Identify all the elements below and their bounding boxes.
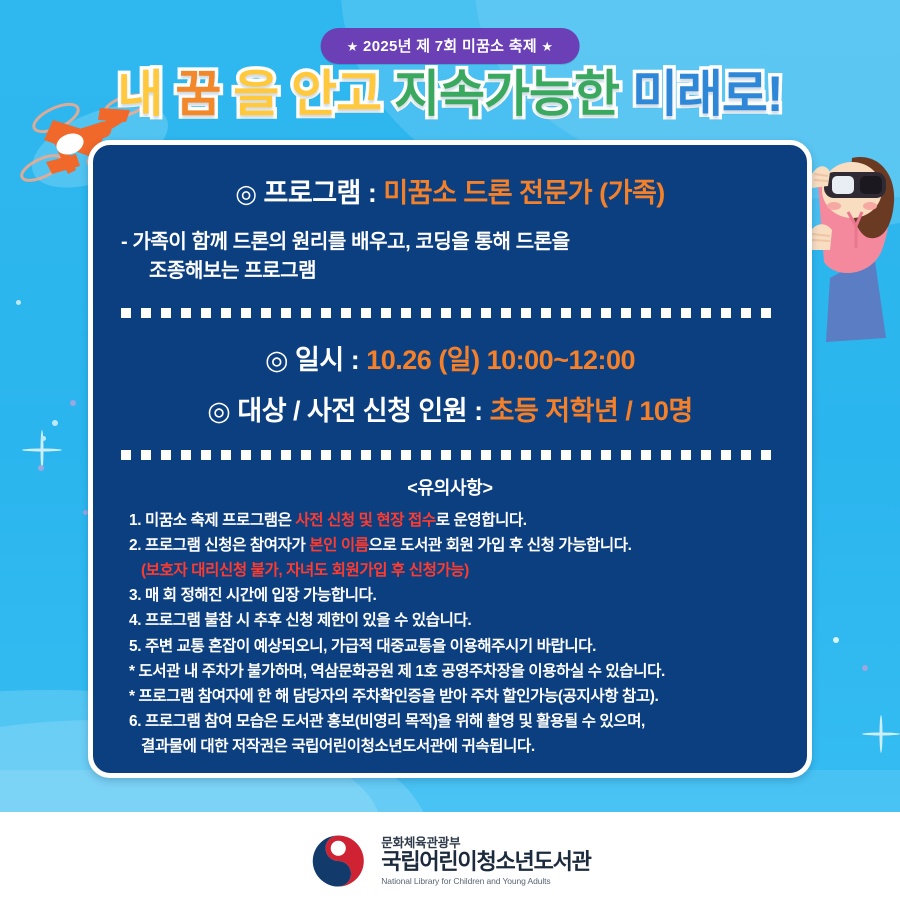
bullet-circle-icon-program: ◎ [235,180,256,208]
poster-root: ★ 2025년 제 7회 미꿈소 축제 ★ 내 꿈 을 안고 지속가능한 미래로… [0,0,900,900]
bullet-circle-icon-datetime: ◎ [265,345,288,375]
notice-item: 3. 매 회 정해진 시간에 입장 가능합니다. [129,583,777,608]
event-badge: ★ 2025년 제 7회 미꿈소 축제 ★ [321,28,580,64]
notice-item-text-tail: 로 운영합니다. [436,512,527,529]
notice-item-text: 1. 미꿈소 축제 프로그램은 [129,512,295,529]
decor-dot-6 [833,637,839,643]
notice-item: 2. 프로그램 신청은 참여자가 본인 이름으로 도서관 회원 가입 후 신청 … [129,533,777,558]
title-part-3: 을 안고 [233,66,381,122]
decor-dot-2 [41,436,46,441]
notice-item-highlight: 사전 신청 및 현장 접수 [295,512,435,529]
audience-row: ◎ 대상 / 사전 신청 인원 : 초등 저학년 / 10명 [119,389,781,428]
notice-item: 결과물에 대한 저작권은 국립어린이청소년도서관에 귀속됩니다. [129,734,777,759]
notice-item-text: 5. 주변 교통 혼잡이 예상되오니, 가급적 대중교통을 이용해주시기 바랍니… [129,638,596,655]
datetime-value: 10.26 (일) 10:00~12:00 [366,345,635,375]
description-dash: - [121,231,127,253]
event-badge-label: 2025년 제 7회 미꿈소 축제 [363,38,537,55]
star-icon-right: ★ [541,39,553,54]
footer-library-name-en: National Library for Children and Young … [381,877,590,887]
notice-item-text: 결과물에 대한 저작권은 국립어린이청소년도서관에 귀속됩니다. [141,738,535,755]
notice-item: 1. 미꿈소 축제 프로그램은 사전 신청 및 현장 접수로 운영합니다. [129,508,777,533]
bullet-circle-icon-audience: ◎ [207,396,230,426]
audience-value: 초등 저학년 / 10명 [490,396,693,426]
decor-dot-7 [862,665,868,671]
audience-label: 대상 / 사전 신청 인원 : [237,396,482,426]
title-part-4: 지속가능한 [394,66,619,122]
title-part-5: 미래로! [632,66,783,122]
footer-logo: 문화체육관광부 국립어린이청소년도서관 National Library for… [309,832,590,890]
page-title: 내 꿈 을 안고 지속가능한 미래로! [0,68,900,121]
footer-library-name: 국립어린이청소년도서관 [381,850,590,875]
taegeuk-logo-icon [309,832,367,890]
notice-item-text: 6. 프로그램 참여 모습은 도서관 홍보(비영리 목적)을 위해 촬영 및 활… [129,713,645,730]
notice-item: 6. 프로그램 참여 모습은 도서관 홍보(비영리 목적)을 위해 촬영 및 활… [129,709,777,734]
notice-item-text: * 프로그램 참여자에 한 해 담당자의 주차확인증을 받아 주차 할인가능(공… [129,688,658,705]
title-part-1: 내 [117,66,162,122]
notice-item: * 프로그램 참여자에 한 해 담당자의 주차확인증을 받아 주차 할인가능(공… [129,684,777,709]
notice-item: (보호자 대리신청 불가, 자녀도 회원가입 후 신청가능) [129,558,777,583]
notice-heading: <유의사항> [119,474,781,500]
decor-dot-4 [38,465,44,471]
decor-dot-3 [70,400,76,406]
notice-item-highlight: 본인 이름 [309,537,368,554]
notice-item-text: * 도서관 내 주차가 불가하며, 역삼문화공원 제 1호 공영주차장을 이용하… [129,663,665,680]
star-icon-left: ★ [347,39,359,54]
divider-dotted-top [121,308,779,318]
decor-dot-1 [52,420,58,426]
notice-item-text: 4. 프로그램 불참 시 추후 신청 제한이 있을 수 있습니다. [129,612,471,629]
notice-item: * 도서관 내 주차가 불가하며, 역삼문화공원 제 1호 공영주차장을 이용하… [129,659,777,684]
program-label: 프로그램 : [264,178,377,208]
notice-item-highlight: (보호자 대리신청 불가, 자녀도 회원가입 후 신청가능) [141,562,469,579]
program-value: 미꿈소 드론 전문가 (가족) [383,178,664,208]
info-card: ◎ 프로그램 : 미꿈소 드론 전문가 (가족) - 가족이 함께 드론의 원리… [88,140,812,778]
decor-dot-8 [16,300,21,305]
divider-dotted-bottom [121,450,779,460]
notice-item-text-tail: 으로 도서관 회원 가입 후 신청 가능합니다. [369,537,632,554]
description-line-1: 가족이 함께 드론의 원리를 배우고, 코딩을 통해 드론을 [132,231,569,253]
datetime-label: 일시 : [295,345,359,375]
program-description: - 가족이 함께 드론의 원리를 배우고, 코딩을 통해 드론을 조종해보는 프… [119,228,781,286]
program-row: ◎ 프로그램 : 미꿈소 드론 전문가 (가족) [119,171,781,210]
notice-item: 4. 프로그램 불참 시 추후 신청 제한이 있을 수 있습니다. [129,608,777,633]
notice-item-text: 2. 프로그램 신청은 참여자가 [129,537,309,554]
notice-list: 1. 미꿈소 축제 프로그램은 사전 신청 및 현장 접수로 운영합니다.2. … [119,508,781,759]
notice-item: 5. 주변 교통 혼잡이 예상되오니, 가급적 대중교통을 이용해주시기 바랍니… [129,634,777,659]
description-line-2: 조종해보는 프로그램 [133,257,775,286]
title-part-2: 꿈 [175,66,220,122]
datetime-row: ◎ 일시 : 10.26 (일) 10:00~12:00 [119,338,781,377]
notice-item-text: 3. 매 회 정해진 시간에 입장 가능합니다. [129,587,376,604]
footer-ministry-name: 문화체육관광부 [381,836,590,850]
